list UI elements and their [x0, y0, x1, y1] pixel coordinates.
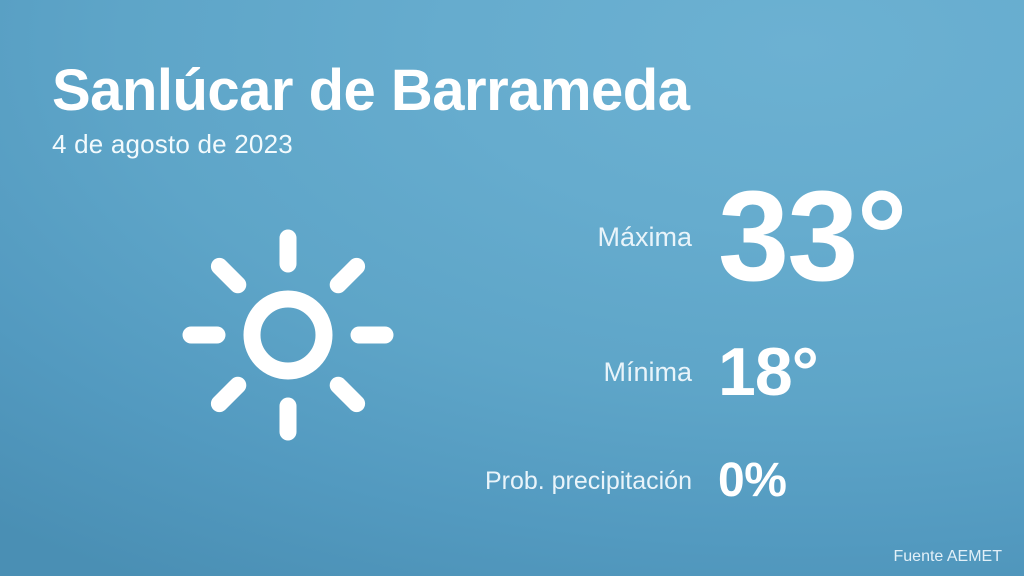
weather-card: Sanlúcar de Barrameda 4 de agosto de 202… [0, 0, 1024, 576]
stat-value-minima: 18° [718, 338, 930, 406]
forecast-date: 4 de agosto de 2023 [52, 130, 952, 159]
stat-label-precipitacion: Prob. precipitación [485, 467, 718, 496]
page-title: Sanlúcar de Barrameda [52, 62, 952, 120]
stat-value-maxima: 33° [718, 173, 930, 301]
stat-label-minima: Mínima [603, 357, 718, 388]
weather-icon-container [178, 225, 398, 445]
header: Sanlúcar de Barrameda 4 de agosto de 202… [52, 62, 952, 159]
source-attribution: Fuente AEMET [894, 548, 1003, 566]
sun-icon [178, 225, 398, 445]
stat-row-maxima: Máxima 33° [400, 168, 930, 306]
stat-row-precipitacion: Prob. precipitación 0% [400, 438, 930, 524]
stat-value-precipitacion: 0% [718, 457, 930, 505]
stat-label-maxima: Máxima [597, 222, 718, 253]
stat-row-minima: Mínima 18° [400, 306, 930, 438]
weather-stats: Máxima 33° Mínima 18° Prob. precipitació… [400, 168, 930, 524]
